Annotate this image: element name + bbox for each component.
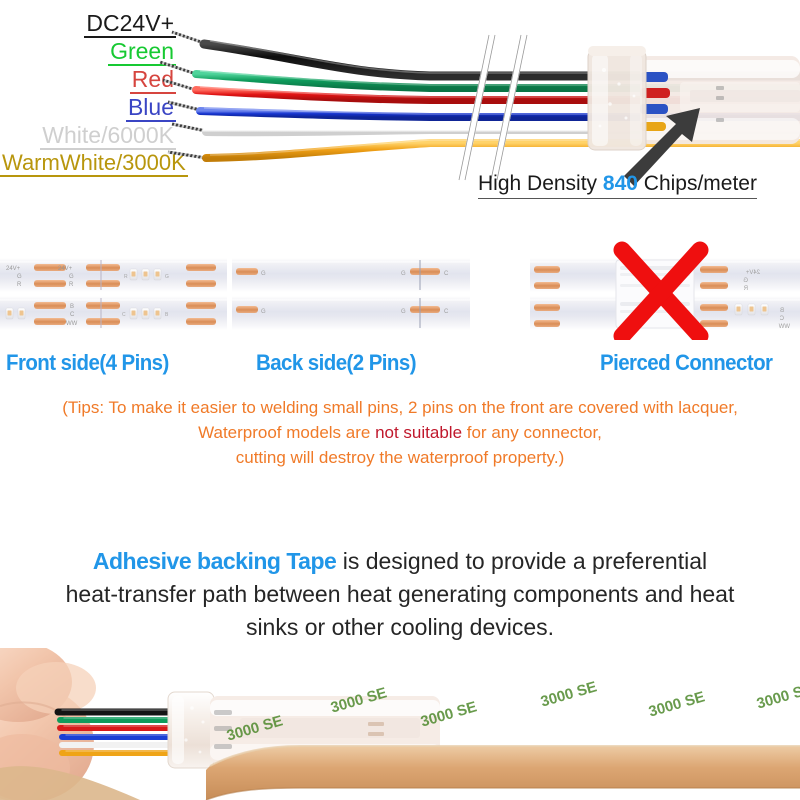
adhesive-description-block: Adhesive backing Tape is designed to pro… xyxy=(0,545,800,644)
svg-text:G: G xyxy=(743,278,748,284)
adhesive-line-3: sinks or other cooling devices. xyxy=(0,611,800,644)
tips-line-2: Waterproof models are not suitable for a… xyxy=(0,420,800,445)
tips-line-1-text: (Tips: To make it easier to welding smal… xyxy=(62,398,738,417)
svg-text:G: G xyxy=(401,271,406,277)
svg-text:G: G xyxy=(17,274,22,280)
svg-text:C: C xyxy=(70,312,75,318)
svg-text:24V+: 24V+ xyxy=(745,270,760,276)
svg-text:C: C xyxy=(122,312,126,318)
svg-text:C: C xyxy=(779,316,784,322)
adhesive-line-1: Adhesive backing Tape is designed to pro… xyxy=(0,545,800,578)
svg-text:WW: WW xyxy=(66,321,78,327)
svg-text:B: B xyxy=(780,308,784,314)
back-side-strip: G G G C G C xyxy=(232,258,470,330)
caption-front-side: Front side(4 Pins) xyxy=(6,350,169,376)
svg-text:C: C xyxy=(444,309,449,315)
adhesive-line-2: heat-transfer path between heat generati… xyxy=(0,578,800,611)
break-line-edges xyxy=(459,35,527,180)
silicone-sleeve-photo xyxy=(168,692,214,768)
led-strip-panels: 24V+ G R 24V+ G R R G xyxy=(0,240,800,340)
wire-diagram-section: DC24V+ Green Red Blue White/6000K WarmWh… xyxy=(0,0,800,222)
svg-text:G: G xyxy=(69,274,74,280)
svg-text:R: R xyxy=(743,286,748,292)
tips-line-2-prefix: Waterproof models are xyxy=(198,423,375,442)
svg-text:C: C xyxy=(444,271,449,277)
svg-text:R: R xyxy=(17,282,22,288)
density-value: 840 xyxy=(603,172,638,195)
tips-line-3-text: cutting will destroy the waterproof prop… xyxy=(236,448,565,467)
adhesive-line-1-rest: is designed to provide a preferential xyxy=(336,548,707,574)
svg-text:R: R xyxy=(69,282,74,288)
tips-line-1: (Tips: To make it easier to welding smal… xyxy=(0,395,800,420)
svg-text:R: R xyxy=(124,274,128,280)
silicone-connector-photo xyxy=(588,46,800,150)
svg-text:G: G xyxy=(261,271,266,277)
tape-photo-illustration xyxy=(0,648,800,800)
svg-text:G: G xyxy=(165,274,169,280)
tips-line-2-suffix: for any connector, xyxy=(462,423,602,442)
density-suffix: Chips/meter xyxy=(638,172,757,195)
caption-pierced-connector: Pierced Connector xyxy=(600,350,772,376)
svg-text:24V+: 24V+ xyxy=(6,266,21,272)
caption-back-side: Back side(2 Pins) xyxy=(256,350,416,376)
svg-text:G: G xyxy=(261,309,266,315)
adhesive-heading: Adhesive backing Tape xyxy=(93,548,336,574)
strip-detail-section: 24V+ G R 24V+ G R R G xyxy=(0,240,800,485)
svg-text:WW: WW xyxy=(778,324,790,330)
front-side-strip: 24V+ G R 24V+ G R R G xyxy=(0,258,227,330)
density-caption: High Density 840 Chips/meter xyxy=(478,172,757,199)
tips-line-3: cutting will destroy the waterproof prop… xyxy=(0,445,800,470)
svg-text:24V+: 24V+ xyxy=(58,266,73,272)
density-prefix: High Density xyxy=(478,172,603,195)
svg-text:B: B xyxy=(70,304,74,310)
tips-highlight-not-suitable: not suitable xyxy=(375,423,462,442)
break-lines xyxy=(462,35,524,180)
svg-text:G: G xyxy=(401,309,406,315)
wire-stripped-ends xyxy=(160,32,206,158)
adhesive-tape-photo: 3000 SE 3000 SE 3000 SE 3000 SE 3000 SE … xyxy=(0,648,800,800)
